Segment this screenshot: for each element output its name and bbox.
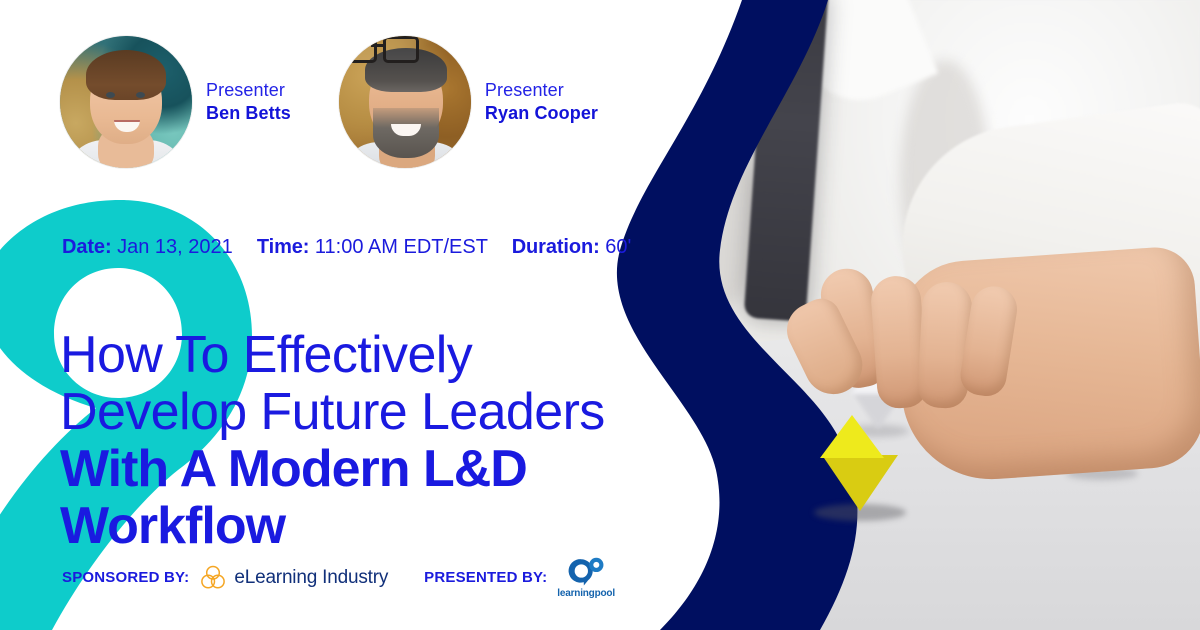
webinar-banner: Presenter Ben Betts — [0, 0, 1200, 630]
content-panel: Presenter Ben Betts — [0, 0, 660, 630]
presenter-ryan-cooper: Presenter Ryan Cooper — [339, 36, 598, 168]
hero-photo — [600, 0, 1200, 630]
headline-bold: With A Modern L&D Workflow — [60, 440, 527, 555]
presented-by-label: PRESENTED BY: — [424, 569, 547, 586]
headline-light: How To Effectively Develop Future Leader… — [60, 326, 605, 441]
date-value: Jan 13, 2021 — [117, 236, 233, 258]
presented-by-block: PRESENTED BY: learningpool — [424, 556, 615, 599]
avatar — [60, 36, 192, 168]
elearning-industry-wordmark: eLearning Industry — [234, 567, 388, 589]
presenter-list: Presenter Ben Betts — [60, 36, 598, 168]
time-value: 11:00 AM EDT/EST — [315, 236, 488, 258]
date-label: Date: — [62, 236, 112, 258]
presenter-role: Presenter — [206, 79, 291, 102]
sponsored-by-block: SPONSORED BY: eLearning Industry — [62, 564, 388, 592]
duration-label: Duration: — [512, 236, 600, 258]
presenter-ben-betts: Presenter Ben Betts — [60, 36, 291, 168]
learningpool-wordmark: learningpool — [557, 588, 615, 599]
presenter-role: Presenter — [485, 79, 598, 102]
learningpool-bubble-icon — [565, 556, 607, 586]
avatar — [339, 36, 471, 168]
sponsored-by-label: SPONSORED BY: — [62, 569, 189, 586]
presenter-name: Ryan Cooper — [485, 102, 598, 125]
duration-value: 60' — [605, 236, 631, 258]
elearning-industry-trefoil-icon — [199, 564, 227, 592]
learningpool-logo[interactable]: learningpool — [557, 556, 615, 599]
page-title: How To Effectively Develop Future Leader… — [60, 327, 620, 555]
presenter-name: Ben Betts — [206, 102, 291, 125]
time-label: Time: — [257, 236, 309, 258]
event-meta: Date: Jan 13, 2021 Time: 11:00 AM EDT/ES… — [62, 236, 631, 259]
elearning-industry-logo[interactable]: eLearning Industry — [199, 564, 388, 592]
footer-logos: SPONSORED BY: eLearning Industry PRESENT… — [62, 556, 615, 599]
